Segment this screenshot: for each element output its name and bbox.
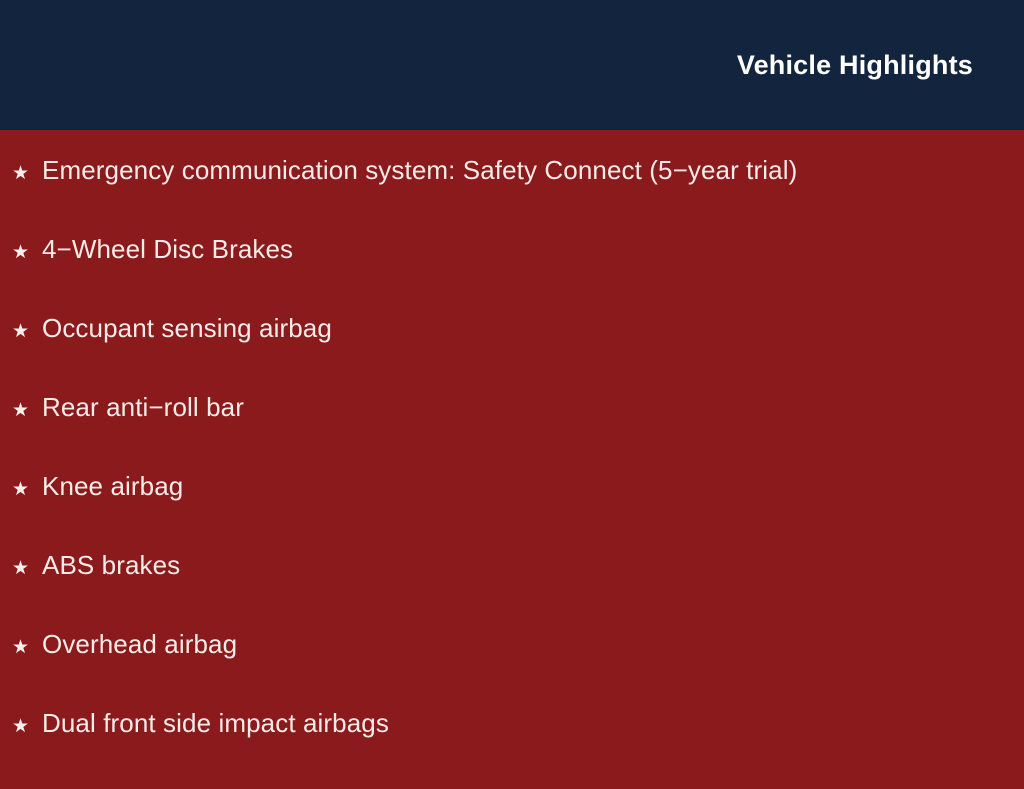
list-item: ★ ABS brakes — [12, 552, 984, 631]
list-item: ★ Occupant sensing airbag — [12, 315, 984, 394]
list-item-label: Occupant sensing airbag — [42, 315, 332, 341]
vehicle-highlights-slide: Vehicle Highlights ★ Emergency communica… — [0, 0, 1024, 768]
list-item-label: ABS brakes — [42, 552, 180, 578]
vehicle-highlights-list: ★ Emergency communication system: Safety… — [12, 157, 984, 789]
star-icon: ★ — [12, 717, 42, 736]
slide-header: Vehicle Highlights — [0, 0, 1024, 130]
list-item: ★ Overhead airbag — [12, 631, 984, 710]
slide-body: ★ Emergency communication system: Safety… — [0, 130, 1024, 789]
star-icon: ★ — [12, 164, 42, 183]
list-item: ★ Rear anti−roll bar — [12, 394, 984, 473]
list-item: ★ 4−Wheel Disc Brakes — [12, 236, 984, 315]
list-item-label: Dual front side impact airbags — [42, 710, 389, 736]
star-icon: ★ — [12, 638, 42, 657]
page-title: Vehicle Highlights — [737, 52, 973, 79]
list-item-label: 4−Wheel Disc Brakes — [42, 236, 293, 262]
list-item-label: Knee airbag — [42, 473, 183, 499]
star-icon: ★ — [12, 401, 42, 420]
list-item-label: Emergency communication system: Safety C… — [42, 157, 797, 183]
star-icon: ★ — [12, 559, 42, 578]
list-item: ★ Emergency communication system: Safety… — [12, 157, 984, 236]
list-item-label: Overhead airbag — [42, 631, 237, 657]
star-icon: ★ — [12, 480, 42, 499]
list-item-label: Rear anti−roll bar — [42, 394, 244, 420]
list-item: ★ Knee airbag — [12, 473, 984, 552]
star-icon: ★ — [12, 243, 42, 262]
star-icon: ★ — [12, 322, 42, 341]
list-item: ★ Dual front side impact airbags — [12, 710, 984, 789]
